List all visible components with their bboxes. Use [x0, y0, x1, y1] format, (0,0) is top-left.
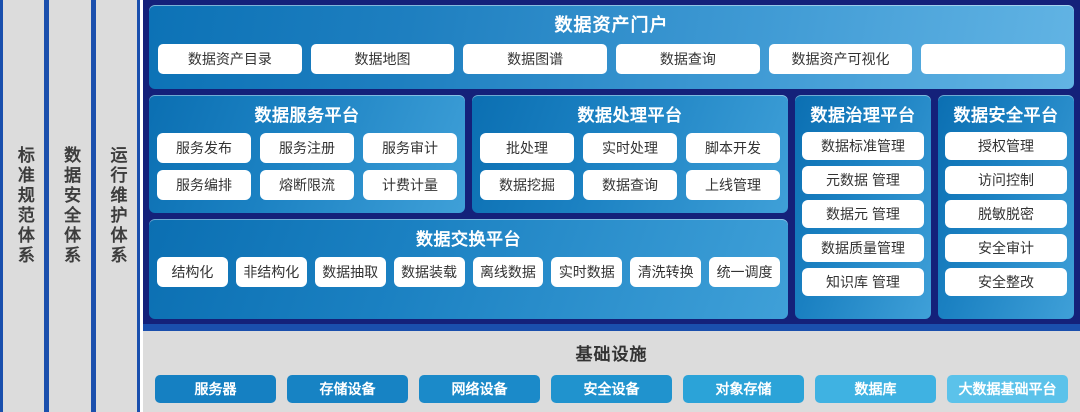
- portal-item-data-graph[interactable]: 数据图谱: [463, 44, 607, 74]
- service-item-billing[interactable]: 计费计量: [363, 170, 457, 200]
- service-item-circuit-break[interactable]: 熔断限流: [260, 170, 354, 200]
- service-item-audit[interactable]: 服务审计: [363, 133, 457, 163]
- panel-data-asset-portal: 数据资产门户 数据资产目录 数据地图 数据图谱 数据查询 数据资产可视化: [149, 5, 1074, 89]
- exchange-item-clean-transform[interactable]: 清洗转换: [630, 257, 701, 287]
- infrastructure-items-row: 服务器 存储设备 网络设备 安全设备 对象存储 数据库 大数据基础平台: [143, 375, 1080, 403]
- process-items-grid: 批处理 实时处理 脚本开发 数据挖掘 数据查询 上线管理: [480, 133, 780, 200]
- service-item-orchestrate[interactable]: 服务编排: [157, 170, 251, 200]
- vertical-pillars-group: 标准规范体系 数据安全体系 运行维护体系: [0, 0, 140, 412]
- process-item-realtime[interactable]: 实时处理: [583, 133, 677, 163]
- middle-band: 数据服务平台 服务发布 服务注册 服务审计 服务编排 熔断限流 计费计量 数据处…: [149, 89, 1074, 319]
- infra-item-database[interactable]: 数据库: [815, 375, 936, 403]
- exchange-item-extract[interactable]: 数据抽取: [315, 257, 386, 287]
- panel-data-security-platform: 数据安全平台 授权管理 访问控制 脱敏脱密 安全审计 安全整改: [938, 95, 1074, 319]
- band-left-column: 数据服务平台 服务发布 服务注册 服务审计 服务编排 熔断限流 计费计量 数据处…: [149, 95, 788, 319]
- exchange-item-structured[interactable]: 结构化: [157, 257, 228, 287]
- process-item-release-mgmt[interactable]: 上线管理: [686, 170, 780, 200]
- security-item-access-control[interactable]: 访问控制: [945, 166, 1067, 194]
- security-item-audit[interactable]: 安全审计: [945, 234, 1067, 262]
- infra-item-network-device[interactable]: 网络设备: [419, 375, 540, 403]
- panel-data-service-platform: 数据服务平台 服务发布 服务注册 服务审计 服务编排 熔断限流 计费计量: [149, 95, 465, 213]
- security-item-rectification[interactable]: 安全整改: [945, 268, 1067, 296]
- governance-items-list: 数据标准管理 元数据 管理 数据元 管理 数据质量管理 知识库 管理: [802, 132, 924, 296]
- panel-title: 数据交换平台: [416, 225, 521, 250]
- architecture-diagram: 标准规范体系 数据安全体系 运行维护体系 数据资产门户 数据资产目录 数据地图 …: [0, 0, 1080, 412]
- panel-title: 数据处理平台: [578, 101, 683, 126]
- security-item-masking[interactable]: 脱敏脱密: [945, 200, 1067, 228]
- band-left-top-row: 数据服务平台 服务发布 服务注册 服务审计 服务编排 熔断限流 计费计量 数据处…: [149, 95, 788, 213]
- exchange-items-row: 结构化 非结构化 数据抽取 数据装载 离线数据 实时数据 清洗转换 统一调度: [157, 257, 780, 287]
- governance-item-data-element[interactable]: 数据元 管理: [802, 200, 924, 228]
- security-items-list: 授权管理 访问控制 脱敏脱密 安全审计 安全整改: [945, 132, 1067, 296]
- governance-item-data-standard[interactable]: 数据标准管理: [802, 132, 924, 160]
- process-item-script-dev[interactable]: 脚本开发: [686, 133, 780, 163]
- panel-data-governance-platform: 数据治理平台 数据标准管理 元数据 管理 数据元 管理 数据质量管理 知识库 管…: [795, 95, 931, 319]
- governance-item-metadata[interactable]: 元数据 管理: [802, 166, 924, 194]
- process-item-mining[interactable]: 数据挖掘: [480, 170, 574, 200]
- infra-item-bigdata-platform[interactable]: 大数据基础平台: [947, 375, 1068, 403]
- infra-item-server[interactable]: 服务器: [155, 375, 276, 403]
- governance-item-data-quality[interactable]: 数据质量管理: [802, 234, 924, 262]
- pillar-label: 标准规范体系: [14, 146, 32, 266]
- service-item-register[interactable]: 服务注册: [260, 133, 354, 163]
- infra-item-object-storage[interactable]: 对象存储: [683, 375, 804, 403]
- exchange-item-load[interactable]: 数据装载: [394, 257, 465, 287]
- panel-data-process-platform: 数据处理平台 批处理 实时处理 脚本开发 数据挖掘 数据查询 上线管理: [472, 95, 788, 213]
- panel-data-exchange-platform: 数据交换平台 结构化 非结构化 数据抽取 数据装载 离线数据 实时数据 清洗转换…: [149, 219, 788, 319]
- infrastructure-title: 基础设施: [576, 340, 648, 365]
- pillar-operation-maintenance[interactable]: 运行维护体系: [96, 0, 137, 412]
- portal-item-catalog[interactable]: 数据资产目录: [158, 44, 302, 74]
- pillar-label: 运行维护体系: [107, 146, 125, 266]
- portal-item-visualization[interactable]: 数据资产可视化: [769, 44, 913, 74]
- main-frame: 数据资产门户 数据资产目录 数据地图 数据图谱 数据查询 数据资产可视化 数据服…: [143, 0, 1080, 412]
- infra-item-security-device[interactable]: 安全设备: [551, 375, 672, 403]
- process-item-batch[interactable]: 批处理: [480, 133, 574, 163]
- exchange-item-offline-data[interactable]: 离线数据: [473, 257, 544, 287]
- process-item-query[interactable]: 数据查询: [583, 170, 677, 200]
- infra-item-storage-device[interactable]: 存储设备: [287, 375, 408, 403]
- portal-item-empty[interactable]: [921, 44, 1065, 74]
- exchange-item-unified-schedule[interactable]: 统一调度: [709, 257, 780, 287]
- pillar-standard-spec[interactable]: 标准规范体系: [3, 0, 44, 412]
- service-items-grid: 服务发布 服务注册 服务审计 服务编排 熔断限流 计费计量: [157, 133, 457, 200]
- portal-items-row: 数据资产目录 数据地图 数据图谱 数据查询 数据资产可视化: [149, 44, 1074, 74]
- panel-infrastructure: 基础设施 服务器 存储设备 网络设备 安全设备 对象存储 数据库 大数据基础平台: [143, 324, 1080, 412]
- pillar-label: 数据安全体系: [61, 146, 79, 266]
- service-item-publish[interactable]: 服务发布: [157, 133, 251, 163]
- panel-title: 数据治理平台: [811, 101, 916, 126]
- pillar-data-security[interactable]: 数据安全体系: [49, 0, 90, 412]
- security-item-authorization[interactable]: 授权管理: [945, 132, 1067, 160]
- portal-item-data-query[interactable]: 数据查询: [616, 44, 760, 74]
- panel-title: 数据服务平台: [255, 101, 360, 126]
- exchange-item-unstructured[interactable]: 非结构化: [236, 257, 307, 287]
- portal-title: 数据资产门户: [555, 11, 669, 37]
- exchange-item-realtime-data[interactable]: 实时数据: [551, 257, 622, 287]
- governance-item-knowledge-base[interactable]: 知识库 管理: [802, 268, 924, 296]
- portal-item-data-map[interactable]: 数据地图: [311, 44, 455, 74]
- panel-title: 数据安全平台: [954, 101, 1059, 126]
